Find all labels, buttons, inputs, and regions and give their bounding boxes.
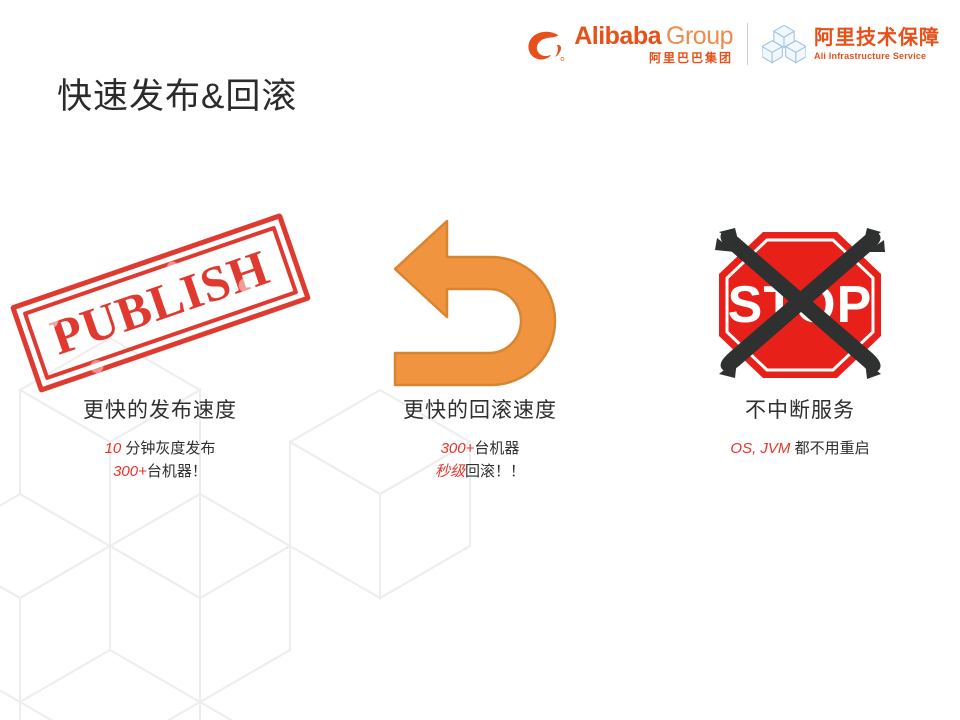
no-downtime-sub-line1-red: OS, JVM bbox=[730, 440, 790, 457]
publish-art: PUBLISH bbox=[0, 215, 320, 390]
slide-canvas: AlibabaGroup 阿里巴巴集团 阿里 bbox=[0, 0, 960, 720]
publish-sub-line1-red: 10 bbox=[105, 440, 122, 457]
feature-column-no-downtime: STOP 不中断服务 OS, JVM 都不用重启 bbox=[640, 215, 960, 483]
isometric-cubes-icon bbox=[762, 22, 806, 66]
publish-stamp-icon: PUBLISH bbox=[10, 212, 311, 392]
feature-subtext-publish: 10 分钟灰度发布 300+台机器！ bbox=[105, 438, 216, 483]
feature-columns: PUBLISH 更快的发布速度 10 分钟灰度发布 300+台机器！ 更快的回滚… bbox=[0, 215, 960, 483]
alibaba-group-logo: AlibabaGroup 阿里巴巴集团 bbox=[526, 24, 733, 64]
publish-stamp-text: PUBLISH bbox=[44, 241, 274, 362]
rollback-sub-line1-red: 300+ bbox=[441, 440, 475, 457]
page-title: 快速发布&回滚 bbox=[57, 68, 297, 119]
alibaba-mark-icon bbox=[526, 28, 568, 62]
feature-heading-rollback: 更快的回滚速度 bbox=[403, 394, 557, 424]
alibaba-english-name: AlibabaGroup bbox=[574, 24, 733, 49]
ais-english-name: Ali Infrastructure Service bbox=[814, 52, 940, 61]
publish-sub-line2-dark: 台机器！ bbox=[147, 463, 207, 480]
feature-subtext-rollback: 300+台机器 秒级回滚！！ bbox=[435, 438, 525, 483]
rollback-art bbox=[320, 215, 640, 390]
ais-wordmark: 阿里技术保障 Ali Infrastructure Service bbox=[814, 28, 940, 61]
rollback-sub-line2-red: 秒级 bbox=[435, 463, 465, 480]
ais-chinese-name: 阿里技术保障 bbox=[814, 28, 940, 48]
alibaba-chinese-name: 阿里巴巴集团 bbox=[649, 52, 733, 64]
undo-arrow-icon bbox=[385, 217, 575, 389]
stop-art: STOP bbox=[640, 215, 960, 390]
rollback-sub-line2-dark: 回滚！！ bbox=[465, 463, 525, 480]
header-logo-bar: AlibabaGroup 阿里巴巴集团 阿里 bbox=[526, 16, 940, 72]
logo-divider bbox=[747, 23, 748, 65]
feature-column-rollback: 更快的回滚速度 300+台机器 秒级回滚！！ bbox=[320, 215, 640, 483]
alibaba-wordmark: AlibabaGroup 阿里巴巴集团 bbox=[574, 24, 733, 64]
feature-heading-publish: 更快的发布速度 bbox=[83, 394, 237, 424]
no-downtime-sub-line1-dark: 都不用重启 bbox=[790, 440, 869, 457]
ali-infrastructure-service-logo: 阿里技术保障 Ali Infrastructure Service bbox=[762, 22, 940, 66]
feature-heading-no-downtime: 不中断服务 bbox=[745, 394, 855, 424]
publish-sub-line2-red: 300+ bbox=[113, 463, 147, 480]
stop-sign-crossed-out-icon: STOP bbox=[705, 218, 895, 388]
publish-sub-line1-dark: 分钟灰度发布 bbox=[121, 440, 215, 457]
feature-column-publish: PUBLISH 更快的发布速度 10 分钟灰度发布 300+台机器！ bbox=[0, 215, 320, 483]
publish-stamp-inner-border: PUBLISH bbox=[22, 225, 297, 380]
feature-subtext-no-downtime: OS, JVM 都不用重启 bbox=[730, 438, 869, 461]
alibaba-english-primary: Alibaba bbox=[574, 22, 661, 50]
rollback-sub-line1-dark: 台机器 bbox=[474, 440, 519, 457]
alibaba-english-secondary: Group bbox=[666, 22, 733, 50]
